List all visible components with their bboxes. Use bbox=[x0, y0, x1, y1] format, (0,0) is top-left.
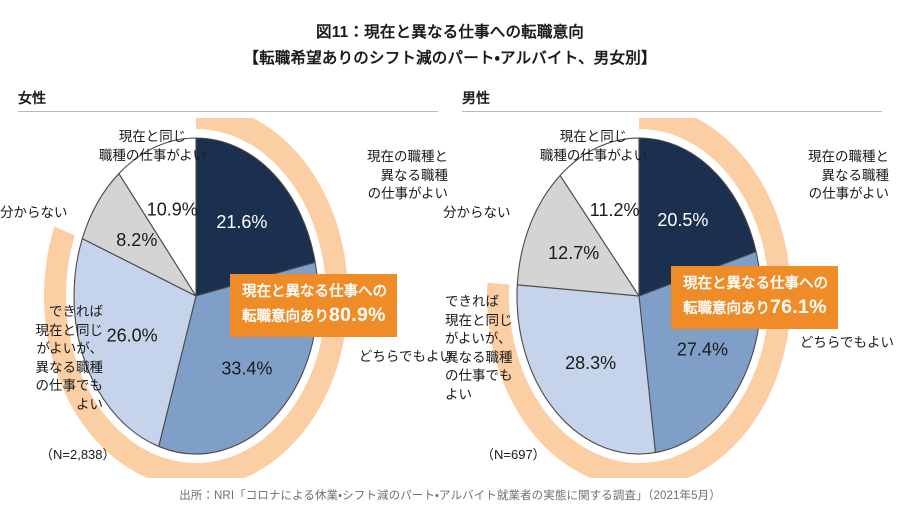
callout-male-prefix: 転職意向あり bbox=[683, 301, 770, 317]
callout-female-line2: 転職意向あり80.9% bbox=[242, 304, 387, 329]
figure-title-line2: 【転職希望ありのシフト減のパート・アルバイト、男女別】 bbox=[0, 46, 900, 72]
pie-slice-value-label: 28.3% bbox=[565, 353, 616, 373]
label-male-same-job: 現在と同じ 職種の仕事がよい bbox=[501, 128, 686, 165]
label-female-different-job: 現在の職種と 異なる職種 の仕事がよい bbox=[298, 148, 448, 204]
callout-male-line2: 転職意向あり76.1% bbox=[683, 296, 828, 321]
panel-header-female-label: 女性 bbox=[18, 90, 438, 107]
label-male-either: どちらでもよい bbox=[789, 334, 894, 353]
panel-header-male-label: 男性 bbox=[462, 90, 882, 107]
callout-male: 現在と異なる仕事への 転職意向あり76.1% bbox=[671, 266, 838, 329]
source-note: 出所：NRI「コロナによる休業・シフト減のパート・アルバイト就業者の実態に関する… bbox=[0, 487, 900, 503]
pie-panel-female: 21.6%33.4%26.0%8.2%10.9% 現在と同じ 職種の仕事がよい … bbox=[0, 118, 450, 478]
figure-title-line1: 図11：現在と異なる仕事への転職意向 bbox=[0, 20, 900, 46]
callout-female-line1: 現在と異なる仕事への bbox=[242, 281, 387, 304]
callout-female-prefix: 転職意向あり bbox=[242, 309, 329, 325]
pie-slice-value-label: 33.4% bbox=[221, 359, 272, 379]
callout-female: 現在と異なる仕事への 転職意向あり80.9% bbox=[230, 274, 397, 337]
label-male-unknown: 分からない bbox=[443, 204, 571, 223]
pie-slice-value-label: 10.9% bbox=[147, 200, 198, 220]
pie-slice-value-label: 21.6% bbox=[216, 212, 267, 232]
pie-panel-male: 20.5%27.4%28.3%12.7%11.2% 現在と同じ 職種の仕事がよい… bbox=[443, 118, 893, 478]
callout-male-value: 76.1% bbox=[770, 296, 827, 318]
label-male-prefer-same: できれば 現在と同じ がよいが、 異なる職種 の仕事でも よい bbox=[445, 293, 545, 404]
label-female-either: どちらでもよい bbox=[343, 348, 453, 367]
figure-title: 図11：現在と異なる仕事への転職意向 【転職希望ありのシフト減のパート・アルバイ… bbox=[0, 20, 900, 72]
panel-header-female: 女性 bbox=[18, 90, 438, 114]
label-male-different-job: 現在の職種と 異なる職種 の仕事がよい bbox=[739, 148, 889, 204]
label-female-unknown: 分からない bbox=[0, 204, 130, 223]
pie-slice-value-label: 12.7% bbox=[548, 243, 599, 263]
panel-header-female-rule bbox=[18, 111, 438, 112]
pie-slice-value-label: 8.2% bbox=[116, 230, 157, 250]
pie-slice-value-label: 27.4% bbox=[677, 339, 728, 359]
n-label-male: （N=697） bbox=[481, 444, 546, 463]
panel-header-male: 男性 bbox=[462, 90, 882, 114]
callout-female-value: 80.9% bbox=[329, 304, 386, 326]
label-female-same-job: 現在と同じ 職種の仕事がよい bbox=[60, 128, 245, 165]
label-female-prefer-same: できれば 現在と同じ がよいが、 異なる職種 の仕事でも よい bbox=[8, 303, 103, 414]
callout-male-line1: 現在と異なる仕事への bbox=[683, 273, 828, 296]
pie-slice-value-label: 20.5% bbox=[657, 210, 708, 230]
pie-slice-value-label: 26.0% bbox=[107, 325, 158, 345]
figure-root: 図11：現在と異なる仕事への転職意向 【転職希望ありのシフト減のパート・アルバイ… bbox=[0, 0, 900, 520]
pie-slice-value-label: 11.2% bbox=[590, 200, 640, 220]
n-label-female: （N=2,838） bbox=[40, 444, 116, 463]
panel-header-male-rule bbox=[462, 111, 882, 112]
